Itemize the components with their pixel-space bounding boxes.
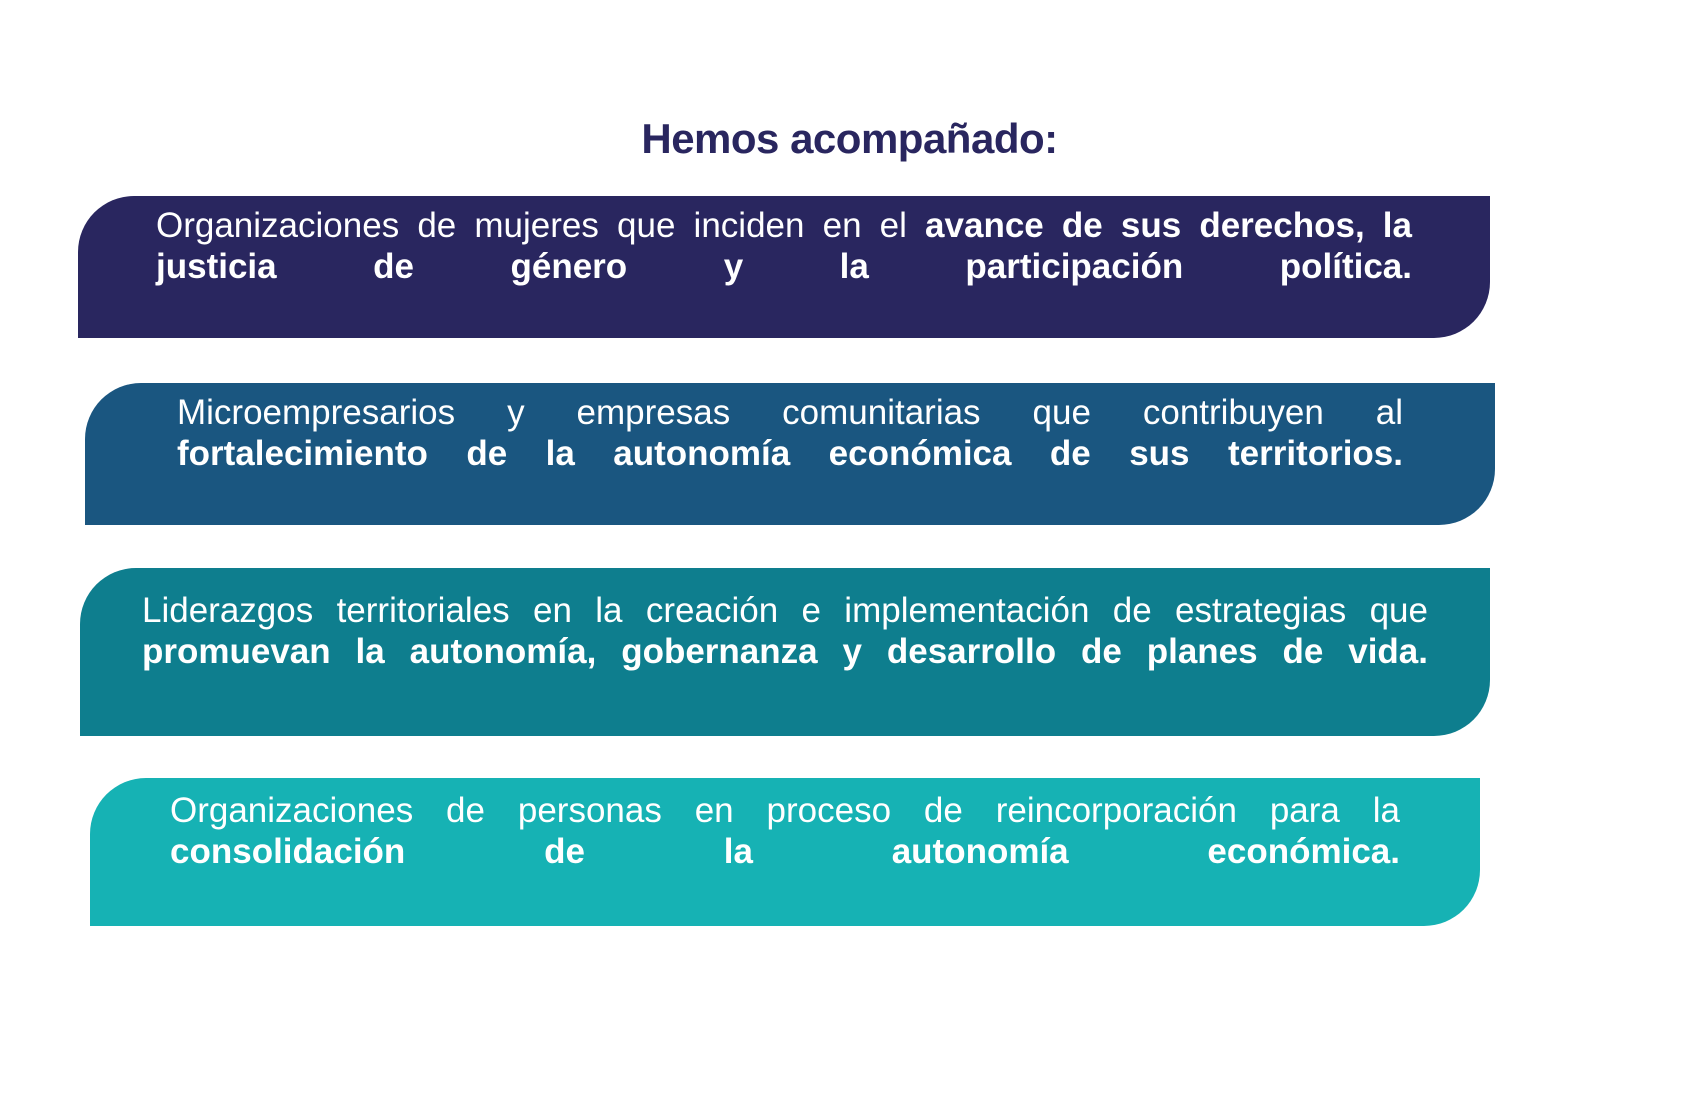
slide-canvas: Hemos acompañado: Organizaciones de muje… (0, 0, 1699, 1104)
page-title: Hemos acompañado: (0, 116, 1699, 162)
list-item-text: Organizaciones de mujeres que inciden en… (156, 206, 1412, 329)
list-item-regular-text: Liderazgos territoriales en la creación … (142, 591, 1428, 630)
list-item-text: Organizaciones de personas en proceso de… (170, 791, 1400, 914)
list-item-bold-text: promuevan la autonomía, gobernanza y des… (142, 632, 1428, 671)
list-item-regular-text: Organizaciones de mujeres que inciden en… (156, 206, 925, 245)
list-item-organizaciones-de-mujeres: Organizaciones de mujeres que inciden en… (78, 196, 1490, 338)
list-item-regular-text: Microempresarios y empresas comunitarias… (177, 393, 1403, 432)
list-item-bold-text: fortalecimiento de la autonomía económic… (177, 434, 1403, 473)
list-item-microempresarios: Microempresarios y empresas comunitarias… (85, 383, 1495, 525)
list-item-organizaciones-reincorporacion: Organizaciones de personas en proceso de… (90, 778, 1480, 926)
list-item-text: Microempresarios y empresas comunitarias… (177, 393, 1403, 516)
list-item-bold-text: consolidación de la autonomía económica. (170, 832, 1400, 871)
list-item-text: Liderazgos territoriales en la creación … (142, 591, 1428, 714)
list-item-liderazgos-territoriales: Liderazgos territoriales en la creación … (80, 568, 1490, 736)
list-item-regular-text: Organizaciones de personas en proceso de… (170, 791, 1400, 830)
